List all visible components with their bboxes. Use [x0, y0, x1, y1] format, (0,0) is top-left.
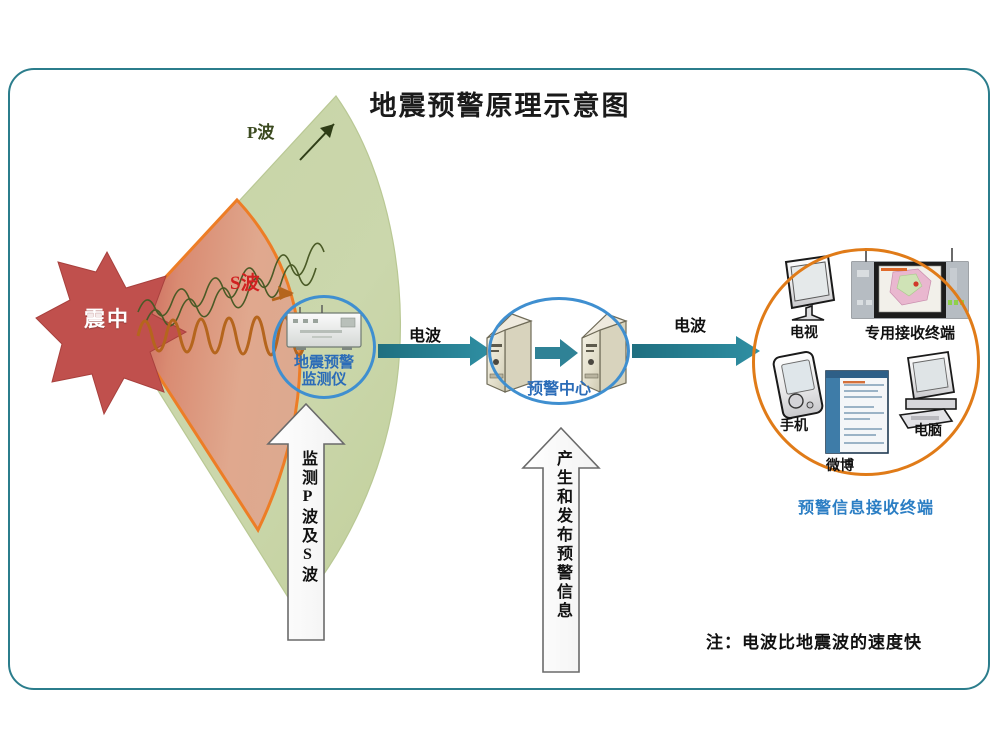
device-label-tv: 电视 — [778, 322, 830, 342]
center-caption: 预警中心 — [488, 375, 630, 399]
p-wave-label: P波 — [247, 118, 274, 143]
device-label-phone: 手机 — [768, 415, 820, 435]
device-label-weibo: 微博 — [812, 455, 868, 475]
terminals-circle — [752, 248, 980, 476]
terminals-caption: 预警信息接收终端 — [750, 494, 982, 518]
footnote: 注：电波比地震波的速度快 — [706, 628, 922, 653]
upward-arrow-1-label: 监测P波及S波 — [297, 450, 317, 585]
page-title: 地震预警原理示意图 — [0, 84, 1000, 123]
epicenter-label: 震中 — [52, 303, 162, 333]
device-label-computer: 电脑 — [902, 420, 954, 440]
monitor-caption: 地震预警 监测仪 — [262, 355, 386, 389]
radio-wave-label-2: 电波 — [674, 312, 706, 336]
s-wave-label: S波 — [230, 268, 260, 295]
upward-arrow-2-label: 产生和发布预警信息 — [552, 450, 572, 621]
monitor-caption-line2: 监测仪 — [262, 372, 386, 389]
diagram-canvas: 地震预警原理示意图 震中 P波 S波 地震预警 监测仪 预警中心 电视 专用接收… — [0, 0, 1000, 750]
radio-wave-label-1: 电波 — [409, 322, 441, 346]
monitor-caption-line1: 地震预警 — [262, 355, 386, 372]
device-label-dedicated-terminal: 专用接收终端 — [840, 322, 980, 343]
